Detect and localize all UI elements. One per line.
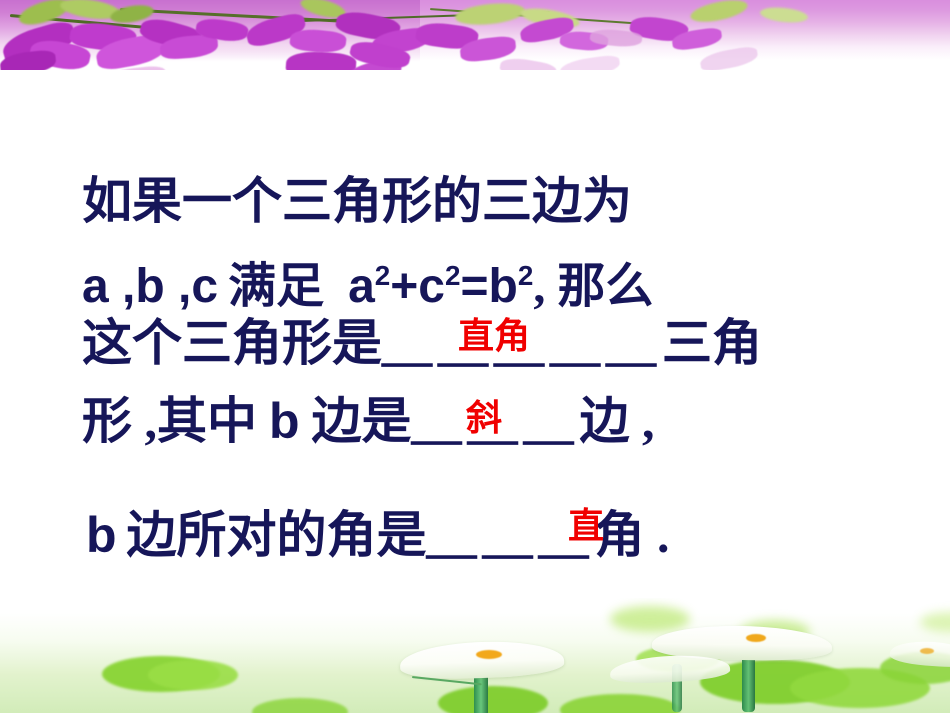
line3-prefix: 这个三角形是 [82,315,382,371]
line2-tail: , 那么 [533,260,653,313]
answer-annotation-1: 直角 [458,318,530,354]
line1-text: 如果一个三角形的三边为 [82,173,632,229]
grass-tuft [148,660,238,690]
line3-suffix: 三角 [662,315,762,371]
lily-spadix [476,650,502,659]
bottom-floral-border [0,598,950,713]
answer-annotation-2: 斜 [466,400,502,436]
line2-verb: 满足 [218,260,334,313]
line4-prefix: 形 ,其中 [82,393,257,449]
line2-eq-b-exponent: 2 [518,260,533,291]
text-line-4: 形 ,其中b边是＿＿＿边 , [82,396,655,446]
lily-spadix [746,634,766,642]
presentation-slide: 如果一个三角形的三边为 a ,b ,c满足a2+c2=b2, 那么 这个三角形是… [0,0,950,713]
line5-suffix: 角 . [595,507,670,563]
text-line-3: 这个三角形是＿＿＿＿＿三角 [82,318,762,368]
line4-suffix: 边 , [580,393,655,449]
line2-eq-a: a [334,260,375,313]
answer-annotation-3: 直 [568,508,604,544]
text-line-2: a ,b ,c满足a2+c2=b2, 那么 [82,262,653,311]
line2-eq-plus-c: +c [390,260,445,313]
line2-eq-c-exponent: 2 [445,260,460,291]
line5-prefix: 边所对的角是 [117,507,427,563]
line5-variable: b [86,507,117,563]
lily-spadix [920,648,934,654]
line4-variable: b [257,393,312,449]
line2-eq-a-exponent: 2 [375,260,390,291]
line2-variables: a ,b ,c [82,260,218,313]
text-line-1: 如果一个三角形的三边为 [82,176,632,226]
line4-mid: 边是 [312,393,412,449]
line2-eq-equals-b: =b [460,260,517,313]
glow-decoration [610,606,690,632]
grass-tuft [438,686,548,713]
